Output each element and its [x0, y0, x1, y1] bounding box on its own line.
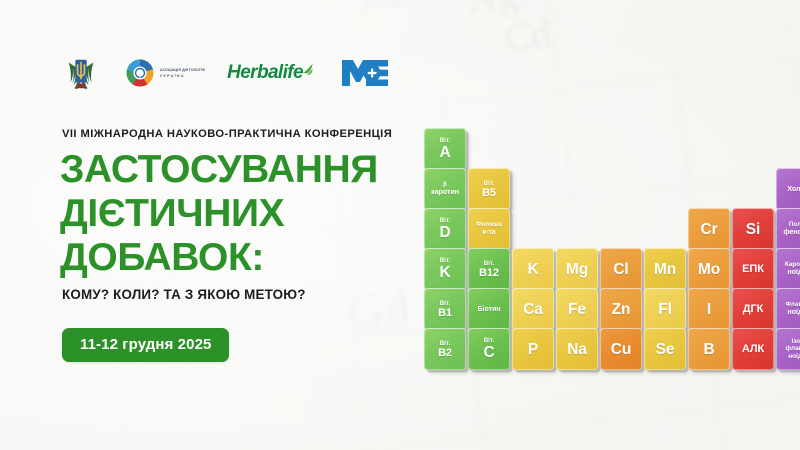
element-tile: Cu — [600, 328, 642, 370]
element-tile: Mg — [556, 248, 598, 290]
element-tile: Mn — [644, 248, 686, 290]
element-tile: Zn — [600, 288, 642, 330]
element-tile-symbol: ЕПК — [742, 263, 764, 275]
element-tile: Se — [644, 328, 686, 370]
element-tile: ЕПК — [732, 248, 774, 290]
element-tile: Біотин — [468, 288, 510, 330]
element-tile: I — [688, 288, 730, 330]
element-tile-superscript: Віт. — [484, 260, 495, 267]
element-tile: Fl — [644, 288, 686, 330]
element-tile-symbol: Si — [746, 221, 760, 238]
element-tile: Віт.B5 — [468, 168, 510, 210]
element-tile-symbol: Ca — [523, 301, 543, 318]
element-tile-symbol: Mn — [654, 261, 676, 278]
element-tile: Mo — [688, 248, 730, 290]
element-tile: Cl — [600, 248, 642, 290]
element-tile-symbol: Холін — [787, 185, 800, 193]
element-tile: Ca — [512, 288, 554, 330]
element-tile-symbol: B5 — [482, 187, 496, 199]
element-tile-symbol: K — [527, 261, 538, 278]
element-tile-symbol: ДГК — [743, 303, 764, 315]
element-tile: βкаротин — [424, 168, 466, 210]
element-tile: Холін — [776, 168, 800, 210]
conference-banner: MoTcRuRhPdAgCuNiCuZnOsIrPtAuHgCdEuGdTbSm… — [0, 0, 800, 450]
element-tile-symbol: каротин — [431, 188, 459, 196]
element-tile-superscript: Віт. — [484, 337, 495, 344]
element-tile-symbol: Na — [567, 341, 587, 358]
element-tile: Віт.B2 — [424, 328, 466, 370]
element-tile: Віт.B12 — [468, 248, 510, 290]
element-tile-symbol: B — [703, 341, 714, 358]
element-tile: Fe — [556, 288, 598, 330]
element-tile-symbol: Mo — [698, 261, 720, 278]
element-tile-symbol: феноли — [783, 228, 800, 236]
element-tile: B — [688, 328, 730, 370]
element-tile: K — [512, 248, 554, 290]
element-tile: Фолієвак-та — [468, 208, 510, 250]
element-tile-symbol: K — [439, 264, 450, 281]
element-tile-symbol: I — [707, 301, 711, 318]
element-tile: Віт.C — [468, 328, 510, 370]
element-tile-superscript: Віт. — [440, 257, 451, 264]
element-tile-superscript: Віт. — [440, 300, 451, 307]
element-tile: Cr — [688, 208, 730, 250]
element-tile: Полі-феноли — [776, 208, 800, 250]
element-tile: АЛК — [732, 328, 774, 370]
element-tile-superscript: Віт. — [440, 340, 451, 347]
element-tile-superscript: Віт. — [440, 137, 451, 144]
element-tile-symbol: Біотин — [477, 305, 500, 313]
element-tile-symbol: B1 — [438, 307, 452, 319]
element-tile: Віт.D — [424, 208, 466, 250]
element-tile-symbol: Fe — [568, 301, 586, 318]
element-tile-symbol: Se — [656, 341, 675, 358]
element-tile-symbol: Zn — [612, 301, 631, 318]
element-tile: P — [512, 328, 554, 370]
element-tile-symbol: D — [439, 224, 450, 241]
element-tile: Віт.B1 — [424, 288, 466, 330]
element-tile-symbol: ноїди — [787, 268, 800, 276]
element-tile-symbol: к-та — [482, 228, 495, 236]
element-tile: Віт.A — [424, 128, 466, 170]
element-tile-symbol: A — [439, 144, 450, 161]
element-tile-symbol: B2 — [438, 347, 452, 359]
element-tile-symbol: Cr — [700, 221, 717, 238]
element-tile-superscript: Віт. — [484, 180, 495, 187]
element-tile: Na — [556, 328, 598, 370]
element-tile: Віт.K — [424, 248, 466, 290]
element-tile-symbol: АЛК — [742, 343, 764, 355]
element-tile-symbol: Fl — [658, 301, 672, 318]
element-tile: Флаво-ноїди — [776, 288, 800, 330]
element-tile: Кароти-ноїди — [776, 248, 800, 290]
element-tile-symbol: Mg — [566, 261, 588, 278]
element-tile-symbol: Cu — [611, 341, 631, 358]
element-tile-symbol: ноїди — [787, 308, 800, 316]
element-tile: ДГК — [732, 288, 774, 330]
element-tile: Si — [732, 208, 774, 250]
element-tile-grid: Віт.AβкаротинВіт.B5ХолінВіт.DФолієвак-та… — [0, 0, 800, 450]
element-tile-symbol: P — [528, 341, 538, 358]
element-tile-symbol: Cl — [613, 261, 628, 278]
element-tile-symbol: B12 — [479, 267, 499, 279]
element-tile-symbol: флаво-ноїди — [785, 345, 800, 360]
element-tile-superscript: Віт. — [440, 217, 451, 224]
element-tile: Ізо-флаво-ноїди — [776, 328, 800, 370]
element-tile-symbol: C — [483, 344, 494, 361]
